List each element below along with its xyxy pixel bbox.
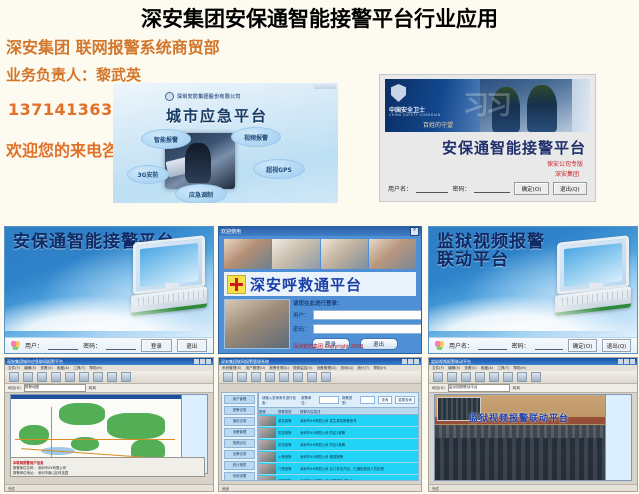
row-type: 巡更报警 [278, 478, 300, 481]
menu-item-stats[interactable]: 统计(T) [357, 366, 369, 371]
username-row: 用户： [293, 310, 416, 320]
go-button[interactable]: 转到 [89, 386, 96, 391]
group-label: 深安集团 [555, 169, 579, 178]
nav-item-users[interactable]: 用户管理 [224, 395, 255, 404]
login-bar: 用户： 密码： 登录 退出 [5, 337, 213, 353]
map-green-area-1 [59, 403, 105, 425]
password-label: 密码： [293, 325, 310, 333]
table-row[interactable]: 巡更报警深圳市XX有限公司 巡更漏检 第3点 [259, 475, 418, 481]
content-area: 请输入查询条件进行检索： 报警单位： 报警类型： 查询 重置查询 图像 报警类型… [258, 392, 419, 481]
address-bar[interactable]: 地址(D) 监狱视频联动平台 转到 [429, 384, 637, 393]
toolbar[interactable] [5, 371, 213, 384]
video-overlay-title: 监狱视频报警联动平台 [469, 411, 569, 424]
screenshot-prison-video-alarm-login: 监狱视频报警 联动平台 用户名： 密码： 确定(O) 退出(Q) [428, 226, 638, 354]
photo-banner [224, 239, 416, 269]
open-icon [237, 372, 247, 382]
window-titlebar: 监狱视频报警联动平台 [429, 358, 637, 365]
screenshot-gis-map-application: 深安集团城市应急联网报警平台 文件(F) 编辑(E) 查看(V) 收藏(A) 工… [4, 357, 214, 492]
nav-item-video-points[interactable]: 视频点位 [224, 439, 255, 448]
exit-icon [321, 372, 331, 382]
filter-field-unit-input[interactable] [319, 396, 339, 404]
table-row[interactable]: 紧急报警深圳市XX有限公司 发生紧急报警信号 [259, 415, 418, 427]
nav-item-dispatch-records[interactable]: 出警记录 [224, 450, 255, 459]
search-icon [79, 372, 89, 382]
window-title: 欢迎使用 [221, 228, 241, 235]
password-label: 密码： [512, 341, 530, 350]
print-icon [531, 372, 541, 382]
address-input[interactable]: 监狱视频联动平台 [448, 384, 510, 392]
password-label: 密码： [83, 341, 101, 350]
copyright-text: 深圳安防集团 Copyright 2008 [293, 343, 363, 350]
alarm-icon [279, 372, 289, 382]
bubble-smart-alarm: 智能报警 [141, 129, 191, 149]
cancel-button[interactable]: 退出(Q) [553, 182, 587, 195]
ok-button[interactable]: 确定(O) [514, 182, 548, 195]
info-row-2-value: 深圳市南山区科技园 [38, 471, 69, 475]
photo-4 [369, 239, 416, 269]
menu-item-video[interactable]: 视频监控(V) [293, 366, 313, 371]
close-icon [206, 359, 211, 364]
username-input[interactable] [478, 341, 507, 350]
window-controls [314, 84, 336, 89]
window-titlebar: 欢迎使用 × [219, 227, 421, 236]
platform-title-line1: 监狱视频报警 [437, 232, 545, 252]
bubble-emergency-dispatch: 应急调制 [175, 184, 227, 203]
menu-item-favorites[interactable]: 收藏(A) [57, 366, 69, 371]
login-bar: 用户名： 密码： 确定(O) 退出(Q) [429, 337, 637, 353]
search-button[interactable]: 查询 [378, 396, 392, 404]
platform-title-line2: 联动平台 [437, 250, 509, 270]
address-label: 地址(D) [432, 386, 445, 391]
table-row[interactable]: 门禁报警深圳市XX有限公司 后门非法开启，已通知值班人员处理 [259, 463, 418, 475]
address-bar[interactable]: 地址(D) 报警地图 转到 [5, 384, 213, 393]
filter-bar[interactable]: 请输入查询条件进行检索： 报警单位： 报警类型： 查询 重置查询 [259, 393, 418, 408]
company-line: 深安集团 联网报警系统商贸部 [6, 34, 220, 58]
maximize-icon [200, 359, 205, 364]
red-cross-icon [227, 275, 246, 294]
filter-field-type-input[interactable] [360, 396, 374, 404]
form-title: 请您在此进行登录： [293, 299, 416, 307]
menu-item-devices[interactable]: 设备管理(D) [317, 366, 337, 371]
row-thumbnail [259, 428, 276, 438]
address-input[interactable]: 报警地图 [24, 384, 86, 392]
company-logo-row: 深圳安防集团股份有限公司 [165, 92, 241, 101]
screenshot-anbaotong-desktop-login: 安保通智能接警平台 用户： 密码： 登录 退出 [4, 226, 214, 354]
menu-item-edit[interactable]: 编辑(E) [448, 366, 460, 371]
minimize-icon [402, 359, 407, 364]
close-icon [414, 359, 419, 364]
row-type: 紧急报警 [278, 418, 300, 423]
row-desc: 深圳市XX有限公司 防区1报警 [300, 430, 418, 435]
ok-button[interactable]: 确定(O) [568, 339, 597, 352]
bubble-video-alarm: 视频报警 [231, 127, 281, 147]
row-thumbnail [259, 452, 276, 462]
screenshot-hujiutong-platform: 欢迎使用 × 深安呼救通平台 请您在此进行登录： 用户： 密码： 登录 [218, 226, 422, 354]
flower-icon [435, 341, 444, 350]
menu-item-alarms[interactable]: 报警处理(A) [269, 366, 289, 371]
save-icon [251, 372, 261, 382]
cancel-button[interactable]: 退出(Q) [602, 339, 631, 352]
menu-item-users[interactable]: 用户管理(U) [245, 366, 265, 371]
seated-inmates [435, 438, 605, 480]
username-input[interactable] [313, 310, 422, 320]
map-green-area-3 [19, 425, 49, 445]
favorites-icon [93, 372, 103, 382]
menu-item-file[interactable]: 文件(F) [432, 366, 444, 371]
filter-label: 请输入查询条件进行检索： [262, 395, 298, 405]
row-desc: 深圳市XX有限公司 防区2报警 [300, 442, 418, 447]
left-navigation[interactable]: 用户管理 报警记录 值班记录 设备管理 视频点位 出警记录 统计报表 系统设置 [221, 392, 258, 481]
menu-item-help[interactable]: 帮助(H) [89, 366, 102, 371]
screenshot-prison-video-platform: 监狱视频报警联动平台 文件(F) 编辑(E) 查看(V) 收藏(A) 工具(T)… [428, 357, 638, 492]
row-thumbnail [259, 440, 276, 450]
video-icon [293, 372, 303, 382]
maximize-icon [408, 359, 413, 364]
window-buttons[interactable] [194, 359, 211, 364]
window-title: 监狱视频报警联动平台 [431, 359, 471, 365]
menu-item-view[interactable]: 查看(V) [464, 366, 476, 371]
menu-item-help[interactable]: 帮助(H) [374, 366, 387, 371]
forward-icon [447, 372, 457, 382]
home-icon [489, 372, 499, 382]
city-platform-title: 城市应急平台 [166, 105, 268, 126]
refresh-icon [265, 372, 275, 382]
bubble-3g-security: 3G安防 [127, 165, 169, 184]
maximize-icon [624, 359, 629, 364]
username-label: 用户： [293, 311, 310, 319]
stop-icon [461, 372, 471, 382]
company-name: 深圳安防集团股份有限公司 [177, 93, 241, 100]
print-icon [121, 372, 131, 382]
shield-icon [391, 84, 406, 102]
history-icon [107, 372, 117, 382]
reset-button[interactable]: 重置查询 [395, 396, 415, 404]
back-icon [9, 372, 19, 382]
filter-field-type-label: 报警类型： [342, 395, 357, 405]
username-input[interactable] [416, 184, 448, 193]
row-thumbnail [259, 476, 276, 482]
close-icon[interactable]: × [410, 227, 419, 236]
table-header: 图像 报警类型 报警内容描述 [259, 408, 418, 415]
password-input[interactable] [474, 184, 510, 193]
nav-item-settings[interactable]: 系统设置 [224, 472, 255, 481]
password-label: 密码： [452, 184, 470, 193]
screenshot-alarm-management-application: 深安集团联网报警管理系统 系统管理(S) 用户管理(U) 报警处理(A) 视频监… [218, 357, 422, 492]
home-icon [65, 372, 75, 382]
nav-item-devices[interactable]: 设备管理 [224, 428, 255, 437]
monitor-illustration [555, 239, 629, 295]
row-type: 防劫报警 [278, 442, 300, 447]
monitor-illustration [131, 239, 205, 295]
refresh-icon [475, 372, 485, 382]
status-bar: 完成 [5, 484, 213, 491]
window-titlebar: 深安集团城市应急联网报警平台 [5, 358, 213, 365]
info-row-2: 报警单位地址： 深圳市南山区科技园 [13, 470, 202, 475]
row-desc: 深圳市XX有限公司 后门非法开启，已通知值班人员处理 [300, 466, 418, 471]
password-row: 密码： [293, 324, 416, 334]
nav-item-duty-records[interactable]: 值班记录 [224, 417, 255, 426]
menu-item-tools[interactable]: 工具(T) [497, 366, 509, 371]
nav-item-alarm-records[interactable]: 报警记录 [224, 406, 255, 415]
screenshot-city-emergency-platform: 深圳安防集团股份有限公司 城市应急平台 智能报警 视频报警 3G安防 超视GPS… [113, 83, 338, 203]
poster-page: 深安集团安保通智能接警平台行业应用 深安集团 联网报警系统商贸部 业务负责人：黎… [0, 0, 639, 494]
username-label: 用户名： [388, 184, 412, 193]
status-bar: 完成 [429, 484, 637, 491]
window-titlebar: 深安集团联网报警管理系统 [219, 358, 421, 365]
menu-item-tools[interactable]: 工具(T) [73, 366, 85, 371]
new-icon [223, 372, 233, 382]
table-row[interactable]: 火警报警深圳市XX有限公司 烟感报警 [259, 451, 418, 463]
toolbar[interactable] [219, 371, 421, 384]
brand-title: 深安呼救通平台 [250, 274, 362, 295]
row-desc: 深圳市XX有限公司 烟感报警 [300, 454, 418, 459]
screenshot-anbaotong-security-edition: 习习 中国安全卫士 CHINA SAFETY GUARDIAN 百姓的守望 安保… [379, 74, 596, 202]
menu-item-file[interactable]: 文件(F) [8, 366, 20, 371]
row-type: 火警报警 [278, 454, 300, 459]
platform-title: 监狱视频报警 联动平台 [437, 233, 545, 270]
row-desc: 深圳市XX有限公司 发生紧急报警信号 [300, 418, 418, 423]
window-buttons[interactable] [618, 359, 635, 364]
window-title: 深安集团城市应急联网报警平台 [7, 359, 63, 365]
refresh-icon [51, 372, 61, 382]
nav-item-reports[interactable]: 统计报表 [224, 461, 255, 470]
col-type: 报警类型 [278, 409, 300, 414]
table-row[interactable]: 防盗报警深圳市XX有限公司 防区1报警 [259, 427, 418, 439]
favorites-icon [517, 372, 527, 382]
map-green-area-2 [107, 413, 165, 439]
flower-icon [11, 341, 20, 350]
window-buttons[interactable] [402, 359, 419, 364]
photo-3 [321, 239, 368, 269]
minimize-icon [194, 359, 199, 364]
brand-row: 深安呼救通平台 [224, 272, 416, 296]
go-button[interactable]: 转到 [513, 386, 520, 391]
row-thumbnail [259, 416, 276, 426]
forward-icon [23, 372, 33, 382]
page-title: 深安集团安保通智能接警平台行业应用 [0, 3, 639, 33]
menu-item-query[interactable]: 查询(Q) [341, 366, 354, 371]
edition-label: 保安公司专版 [547, 159, 583, 168]
print-icon [307, 372, 317, 382]
username-input[interactable] [48, 341, 78, 350]
col-desc: 报警内容描述 [300, 409, 418, 414]
row-desc: 深圳市XX有限公司 巡更漏检 第3点 [300, 478, 418, 481]
username-label: 用户名： [449, 341, 473, 350]
map-road-1 [15, 439, 175, 440]
login-bar: 用户名： 密码： 确定(O) 退出(Q) [388, 182, 587, 195]
banner-logo-subtext: CHINA SAFETY GUARDIAN [389, 113, 441, 117]
row-type: 门禁报警 [278, 466, 300, 471]
banner-watermark-text: 习习 [463, 85, 509, 122]
banner: 习习 中国安全卫士 CHINA SAFETY GUARDIAN 百姓的守望 [385, 79, 590, 132]
address-label: 地址(D) [8, 386, 21, 391]
info-row-2-label: 报警单位地址： [13, 471, 37, 475]
col-image: 图像 [259, 409, 278, 414]
bubble-gps: 超视GPS [253, 159, 305, 179]
photo-2 [272, 239, 319, 269]
banner-slogan: 百姓的守望 [423, 120, 453, 129]
table-row[interactable]: 防劫报警深圳市XX有限公司 防区2报警 [259, 439, 418, 451]
platform-title: 安保通智能接警平台 [442, 137, 586, 158]
menu-item-system[interactable]: 系统管理(S) [222, 366, 241, 371]
exit-button[interactable]: 退出 [360, 338, 398, 350]
company-logo-icon [165, 92, 174, 101]
filter-field-unit-label: 报警单位： [301, 395, 316, 405]
contact-person-line: 业务负责人：黎武英 [6, 64, 141, 85]
background-wave [429, 295, 637, 331]
login-button[interactable]: 登录 [141, 339, 171, 352]
menu-item-favorites[interactable]: 收藏(A) [481, 366, 493, 371]
password-input[interactable] [313, 324, 422, 334]
family-photo [224, 299, 290, 349]
video-viewport[interactable]: 监狱视频报警联动平台 [434, 394, 606, 481]
username-label: 用户： [25, 341, 43, 350]
menu-item-help[interactable]: 帮助(H) [513, 366, 526, 371]
side-pane [605, 394, 632, 481]
search-icon [503, 372, 513, 382]
password-input[interactable] [106, 341, 136, 350]
alarm-info-panel: 本联网报警用户信息 报警单位名称： 深圳市XX有限公司 报警单位地址： 深圳市南… [10, 457, 205, 477]
password-input[interactable] [535, 341, 564, 350]
toolbar[interactable] [429, 371, 637, 384]
row-thumbnail [259, 464, 276, 474]
exit-button[interactable]: 退出 [177, 339, 207, 352]
map-header-bar [11, 395, 181, 399]
row-type: 防盗报警 [278, 430, 300, 435]
menu-item-edit[interactable]: 编辑(E) [24, 366, 36, 371]
close-icon [630, 359, 635, 364]
photo-1 [224, 239, 271, 269]
menu-item-view[interactable]: 查看(V) [40, 366, 52, 371]
back-icon [433, 372, 443, 382]
stop-icon [37, 372, 47, 382]
background-wave [5, 295, 213, 331]
status-bar: 就绪 [219, 484, 421, 491]
minimize-icon [618, 359, 623, 364]
window-title: 深安集团联网报警管理系统 [221, 359, 269, 365]
